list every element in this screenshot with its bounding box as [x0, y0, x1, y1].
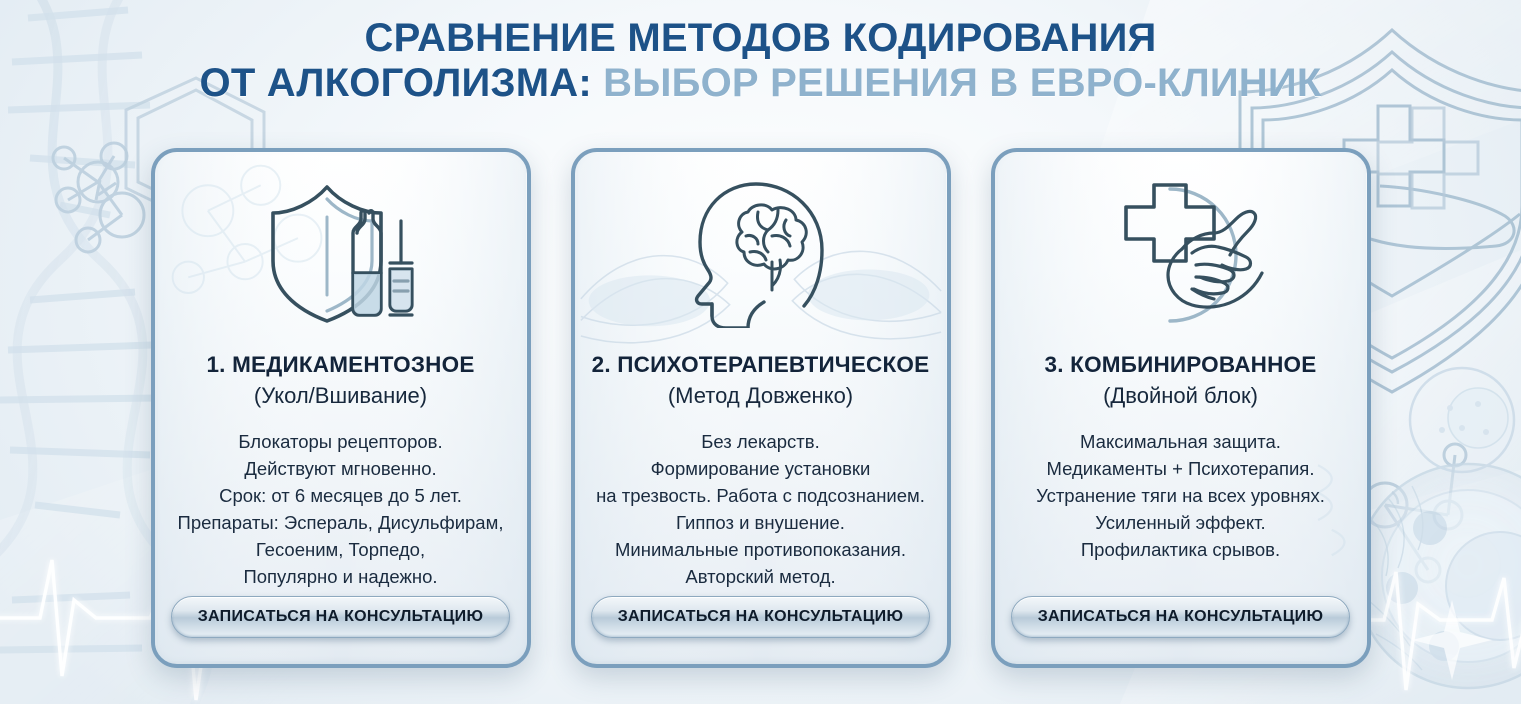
- card-header: 2. ПСИХОТЕРАПЕВТИЧЕСКОЕ (Метод Довженко): [580, 352, 942, 410]
- card-cta-area: ЗАПИСАТЬСЯ НА КОНСУЛЬТАЦИЮ: [155, 596, 527, 638]
- cross-helping-hands-icon: [1096, 177, 1266, 327]
- card-line: Гесоеним, Торпедо,: [178, 536, 504, 563]
- consultation-button[interactable]: ЗАПИСАТЬСЯ НА КОНСУЛЬТАЦИЮ: [591, 596, 931, 638]
- card-icon-area: [155, 152, 527, 352]
- method-card-psychotherapy[interactable]: 2. ПСИХОТЕРАПЕВТИЧЕСКОЕ (Метод Довженко)…: [571, 148, 951, 668]
- card-line: Устранение тяги на всех уровнях.: [1036, 482, 1325, 509]
- card-line: Минимальные противопоказания.: [596, 536, 925, 563]
- card-subtitle: (Укол/Вшивание): [206, 382, 474, 411]
- card-line: Без лекарств.: [596, 428, 925, 455]
- title-line-2-light: ВЫБОР РЕШЕНИЯ В ЕВРО-КЛИНИК: [603, 61, 1321, 105]
- card-line: Формирование установки: [596, 455, 925, 482]
- method-cards: 1. МЕДИКАМЕНТОЗНОЕ (Укол/Вшивание) Блока…: [0, 148, 1521, 668]
- card-line: Медикаменты + Психотерапия.: [1036, 455, 1325, 482]
- method-card-combined[interactable]: 3. КОМБИНИРОВАННОЕ (Двойной блок) Максим…: [991, 148, 1371, 668]
- method-card-medication[interactable]: 1. МЕДИКАМЕНТОЗНОЕ (Укол/Вшивание) Блока…: [151, 148, 531, 668]
- card-title: 3. КОМБИНИРОВАННОЕ: [1045, 352, 1317, 378]
- card-line: Действуют мгновенно.: [178, 455, 504, 482]
- card-line: Гиппоз и внушение.: [596, 509, 925, 536]
- ampoule-liquid: [354, 274, 380, 314]
- title-line-1: СРАВНЕНИЕ МЕТОДОВ КОДИРОВАНИЯ: [0, 16, 1521, 61]
- title-line-2-dark: ОТ АЛКОГОЛИЗМА:: [200, 61, 592, 105]
- card-description: Блокаторы рецепторов. Действуют мгновенн…: [168, 428, 514, 590]
- consultation-button[interactable]: ЗАПИСАТЬСЯ НА КОНСУЛЬТАЦИЮ: [171, 596, 511, 638]
- card-description: Без лекарств. Формирование установки на …: [586, 428, 935, 590]
- card-line: Профилактика срывов.: [1036, 536, 1325, 563]
- card-header: 3. КОМБИНИРОВАННОЕ (Двойной блок): [1033, 352, 1329, 410]
- card-line: Популярно и надежно.: [178, 563, 504, 590]
- card-title: 2. ПСИХОТЕРАПЕВТИЧЕСКОЕ: [592, 352, 930, 378]
- card-line: Авторский метод.: [596, 563, 925, 590]
- shield-ampoule-syringe-icon: [261, 177, 421, 327]
- card-line: Максимальная защита.: [1036, 428, 1325, 455]
- consultation-button[interactable]: ЗАПИСАТЬСЯ НА КОНСУЛЬТАЦИЮ: [1011, 596, 1351, 638]
- card-icon-area: [575, 152, 947, 352]
- card-line: Блокаторы рецепторов.: [178, 428, 504, 455]
- page-title: СРАВНЕНИЕ МЕТОДОВ КОДИРОВАНИЯ ОТ АЛКОГОЛ…: [0, 16, 1521, 106]
- card-line: на трезвость. Работа с подсознанием.: [596, 482, 925, 509]
- syringe-liquid: [391, 270, 411, 310]
- card-icon-area: [995, 152, 1367, 352]
- infographic-banner: СРАВНЕНИЕ МЕТОДОВ КОДИРОВАНИЯ ОТ АЛКОГОЛ…: [0, 0, 1521, 704]
- card-cta-area: ЗАПИСАТЬСЯ НА КОНСУЛЬТАЦИЮ: [995, 596, 1367, 638]
- head-brain-icon: [686, 176, 836, 328]
- card-cta-area: ЗАПИСАТЬСЯ НА КОНСУЛЬТАЦИЮ: [575, 596, 947, 638]
- card-description: Максимальная защита. Медикаменты + Психо…: [1026, 428, 1335, 563]
- card-subtitle: (Двойной блок): [1045, 382, 1317, 411]
- card-line: Срок: от 6 месяцев до 5 лет.: [178, 482, 504, 509]
- card-line: Препараты: Эспераль, Дисульфирам,: [178, 509, 504, 536]
- card-title: 1. МЕДИКАМЕНТОЗНОЕ: [206, 352, 474, 378]
- card-subtitle: (Метод Довженко): [592, 382, 930, 411]
- title-line-2: ОТ АЛКОГОЛИЗМА: ВЫБОР РЕШЕНИЯ В ЕВРО-КЛИ…: [0, 61, 1521, 106]
- card-header: 1. МЕДИКАМЕНТОЗНОЕ (Укол/Вшивание): [194, 352, 486, 410]
- card-line: Усиленный эффект.: [1036, 509, 1325, 536]
